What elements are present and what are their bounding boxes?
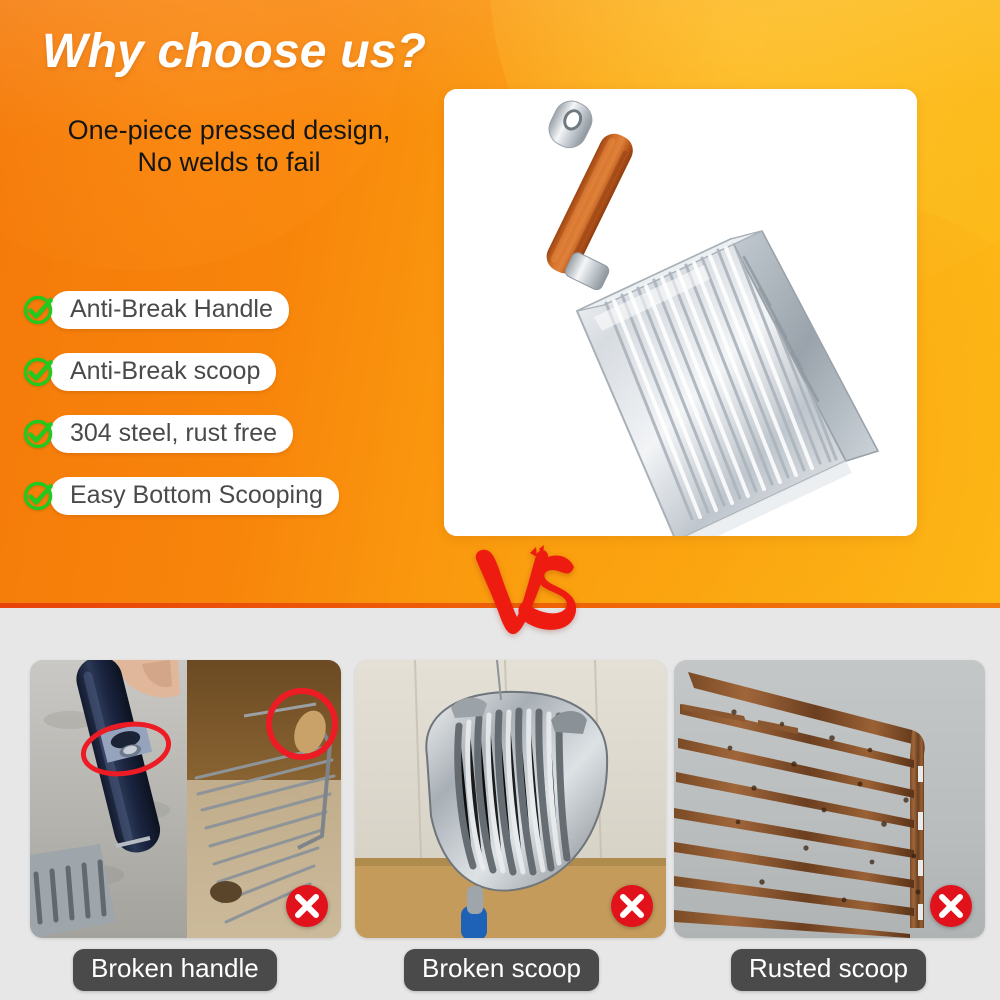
page-title: Why choose us? <box>42 24 426 79</box>
vs-badge <box>470 545 580 637</box>
green-check-circle-icon <box>22 417 56 451</box>
feature-pill: Anti-Break Handle <box>50 291 289 329</box>
red-x-icon <box>285 884 329 928</box>
feature-pill: Anti-Break scoop <box>50 353 276 391</box>
infographic-page: Why choose us? One-piece pressed design,… <box>0 0 1000 1000</box>
comparison-section: Broken handle Broken scoop Rusted scoop <box>0 608 1000 1000</box>
feature-list: Anti-Break Handle Anti-Break scoop <box>22 292 422 540</box>
feature-item: 304 steel, rust free <box>22 416 422 452</box>
feature-pill: 304 steel, rust free <box>50 415 293 453</box>
green-check-circle-icon <box>22 293 56 327</box>
product-scoop-illustration <box>444 89 917 536</box>
comparison-photo-broken-scoop <box>355 660 666 938</box>
red-x-icon <box>610 884 654 928</box>
feature-pill: Easy Bottom Scooping <box>50 477 339 515</box>
caption-broken-handle: Broken handle <box>73 949 277 991</box>
hero-subtitle-line-1: One-piece pressed design, <box>24 115 434 147</box>
feature-item: Easy Bottom Scooping <box>22 478 422 514</box>
hero-subtitle: One-piece pressed design, No welds to fa… <box>24 115 434 178</box>
product-image-card <box>444 89 917 536</box>
feature-item: Anti-Break scoop <box>22 354 422 390</box>
vs-brush-icon <box>470 545 580 637</box>
red-x-icon <box>929 884 973 928</box>
caption-broken-scoop: Broken scoop <box>404 949 599 991</box>
green-check-circle-icon <box>22 479 56 513</box>
feature-item: Anti-Break Handle <box>22 292 422 328</box>
comparison-photo-broken-handle <box>30 660 341 938</box>
comparison-photo-rusted-scoop <box>674 660 985 938</box>
green-check-circle-icon <box>22 355 56 389</box>
caption-rusted-scoop: Rusted scoop <box>731 949 926 991</box>
hero-subtitle-line-2: No welds to fail <box>24 147 434 179</box>
